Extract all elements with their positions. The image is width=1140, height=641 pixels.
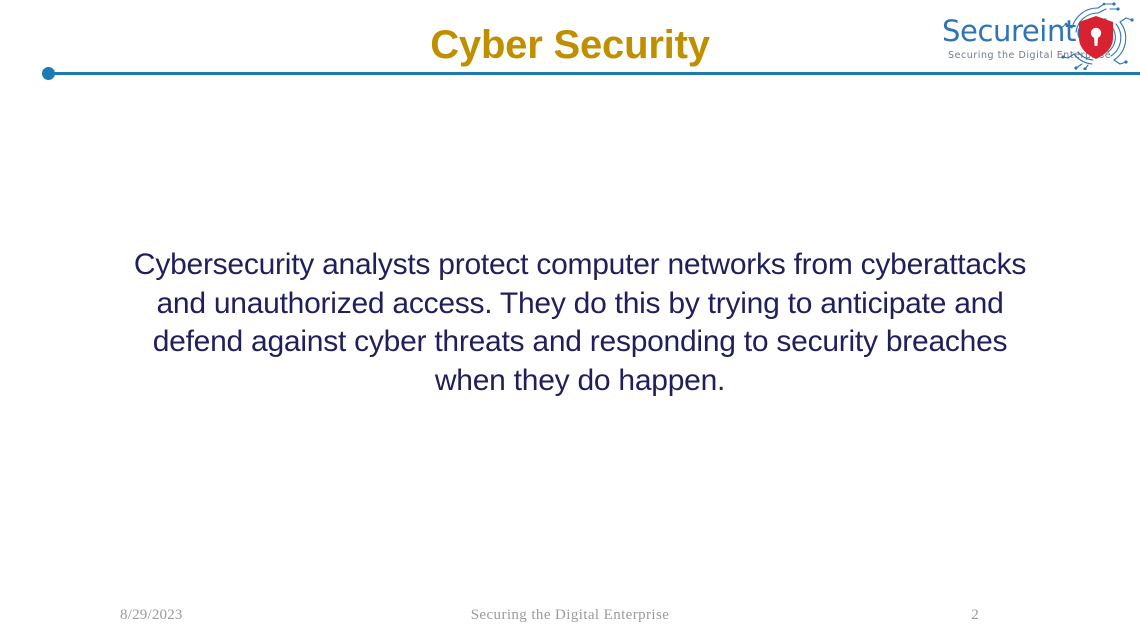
footer-page-number: 2 [930,607,1020,624]
shield-circuit-icon [1058,2,1134,70]
brand-logo: Secureinteli Securing the Digital Enterp… [920,2,1136,70]
body-paragraph: Cybersecurity analysts protect computer … [120,246,1040,400]
slide-footer: 8/29/2023 Securing the Digital Enterpris… [0,607,1140,629]
body-content: Cybersecurity analysts protect computer … [120,246,1040,400]
slide-canvas: Cyber Security Secureinteli Securing the… [0,0,1140,641]
divider-line [48,72,1140,75]
